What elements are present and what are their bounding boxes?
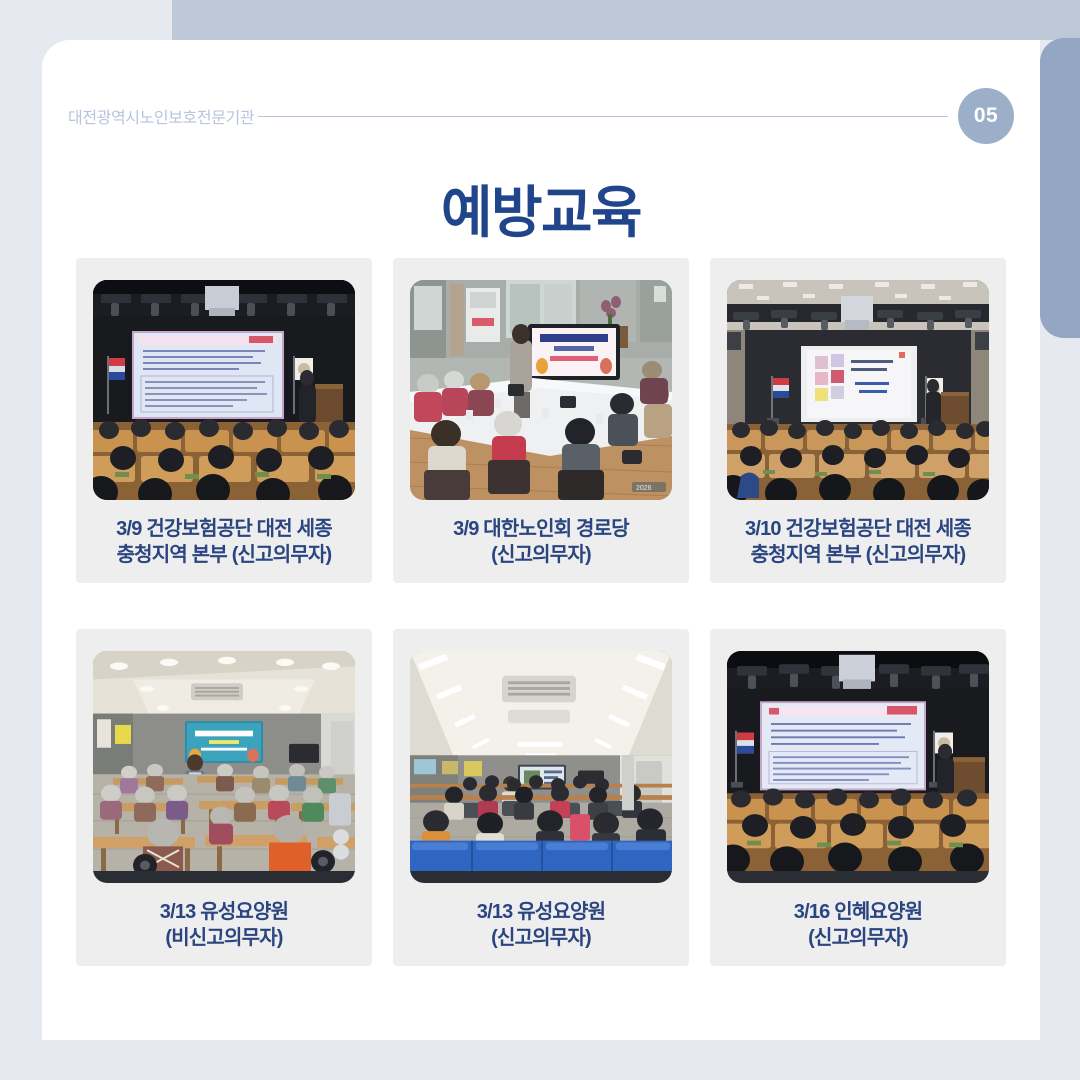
photo-card[interactable]: 2026 3/9 대한노인회 경로당 (신고의무자) (393, 258, 689, 583)
staff-training-room-photo (410, 651, 672, 883)
photo-caption: 3/9 대한노인회 경로당 (신고의무자) (401, 516, 681, 569)
photo-caption: 3/13 유성요양원 (비신고의무자) (84, 899, 364, 952)
nursing-home-classroom-photo (93, 651, 355, 883)
header-divider-line (258, 116, 948, 117)
page-header: 대전광역시노인보호전문기관 05 (68, 88, 1014, 144)
organization-name: 대전광역시노인보호전문기관 (68, 104, 254, 128)
photo-card[interactable]: 3/9 건강보험공단 대전 세종 충청지역 본부 (신고의무자) (76, 258, 372, 583)
page-number-badge: 05 (958, 88, 1014, 144)
page-card: 대전광역시노인보호전문기관 05 예방교육 (42, 40, 1040, 1040)
auditorium-lecture-photo (93, 280, 355, 500)
poster-canvas: 대전광역시노인보호전문기관 05 예방교육 (0, 0, 1080, 1080)
photo-caption: 3/9 건강보험공단 대전 세종 충청지역 본부 (신고의무자) (84, 516, 364, 569)
top-accent-band (172, 0, 1080, 40)
auditorium-slide-photo (727, 651, 989, 883)
photo-caption: 3/13 유성요양원 (신고의무자) (401, 899, 681, 952)
svg-text:2026: 2026 (636, 485, 652, 492)
senior-center-meeting-photo: 2026 (410, 280, 672, 500)
photo-caption: 3/10 건강보험공단 대전 세종 충청지역 본부 (신고의무자) (718, 516, 998, 569)
photo-card[interactable]: 3/13 유성요양원 (신고의무자) (393, 629, 689, 966)
right-accent-pill (1040, 38, 1080, 338)
photo-card[interactable]: 3/16 인혜요양원 (신고의무자) (710, 629, 1006, 966)
photo-grid: 3/9 건강보험공단 대전 세종 충청지역 본부 (신고의무자) (76, 258, 1006, 966)
page-title: 예방교육 (42, 168, 1040, 249)
large-auditorium-photo (727, 280, 989, 500)
photo-card[interactable]: 3/10 건강보험공단 대전 세종 충청지역 본부 (신고의무자) (710, 258, 1006, 583)
photo-caption: 3/16 인혜요양원 (신고의무자) (718, 899, 998, 952)
photo-card[interactable]: 3/13 유성요양원 (비신고의무자) (76, 629, 372, 966)
